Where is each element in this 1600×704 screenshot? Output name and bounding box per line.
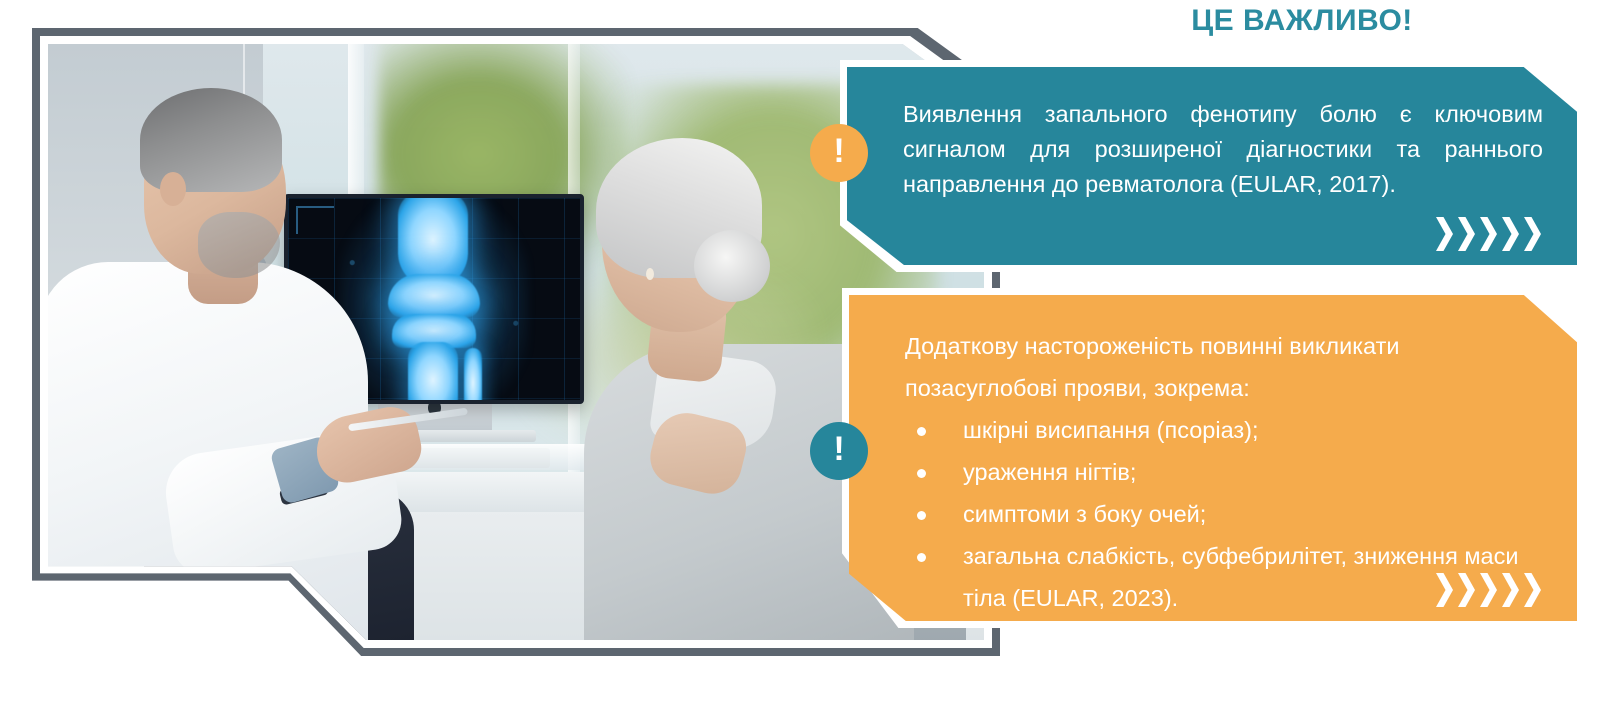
chevron-group (1436, 217, 1541, 251)
chevron-right-icon (1436, 573, 1453, 607)
card-fill: Додаткову настороженість повинні виклика… (849, 295, 1577, 621)
chevron-group (1436, 573, 1541, 607)
card-fill: Виявлення запального фенотипу болю є клю… (847, 67, 1577, 265)
tibia-bone (408, 342, 458, 404)
chevron-right-icon (1436, 217, 1453, 251)
doctor-ear (160, 172, 186, 206)
earring-icon (646, 268, 654, 280)
exclamation-glyph: ! (833, 134, 844, 168)
chevron-right-icon (1480, 217, 1497, 251)
chevron-right-icon (1524, 217, 1541, 251)
chevron-right-icon (1502, 573, 1519, 607)
chevron-right-icon (1502, 217, 1519, 251)
page-title: ЦЕ ВАЖЛИВО! (1022, 4, 1582, 38)
callout-card-orange: Додаткову настороженість повинні виклика… (842, 288, 1584, 628)
list-item: ураження нігтів; (905, 451, 1543, 493)
card-text-teal: Виявлення запального фенотипу болю є клю… (903, 97, 1543, 202)
knee-condyle (388, 274, 480, 318)
exclamation-icon: ! (810, 422, 868, 480)
chevron-right-icon (1458, 573, 1475, 607)
keyboard (400, 448, 550, 468)
chevron-right-icon (1524, 573, 1541, 607)
knee-xray-image (368, 194, 500, 404)
exclamation-glyph: ! (833, 432, 844, 466)
orange-intro-text: Додаткову настороженість повинні виклика… (905, 325, 1543, 409)
callout-card-teal: Виявлення запального фенотипу болю є клю… (840, 60, 1584, 272)
doctor-hair (140, 88, 282, 192)
exclamation-icon: ! (810, 124, 868, 182)
patient-hair-bun (694, 230, 770, 302)
fibula-bone (464, 348, 482, 404)
list-item: симптоми з боку очей; (905, 493, 1543, 535)
chevron-right-icon (1480, 573, 1497, 607)
list-item: шкірні висипання (псоріаз); (905, 409, 1543, 451)
hud-corner-icon (296, 206, 334, 234)
infographic-canvas: ЦЕ ВАЖЛИВО! Виявлення запального фенотип… (0, 0, 1600, 704)
chevron-right-icon (1458, 217, 1475, 251)
